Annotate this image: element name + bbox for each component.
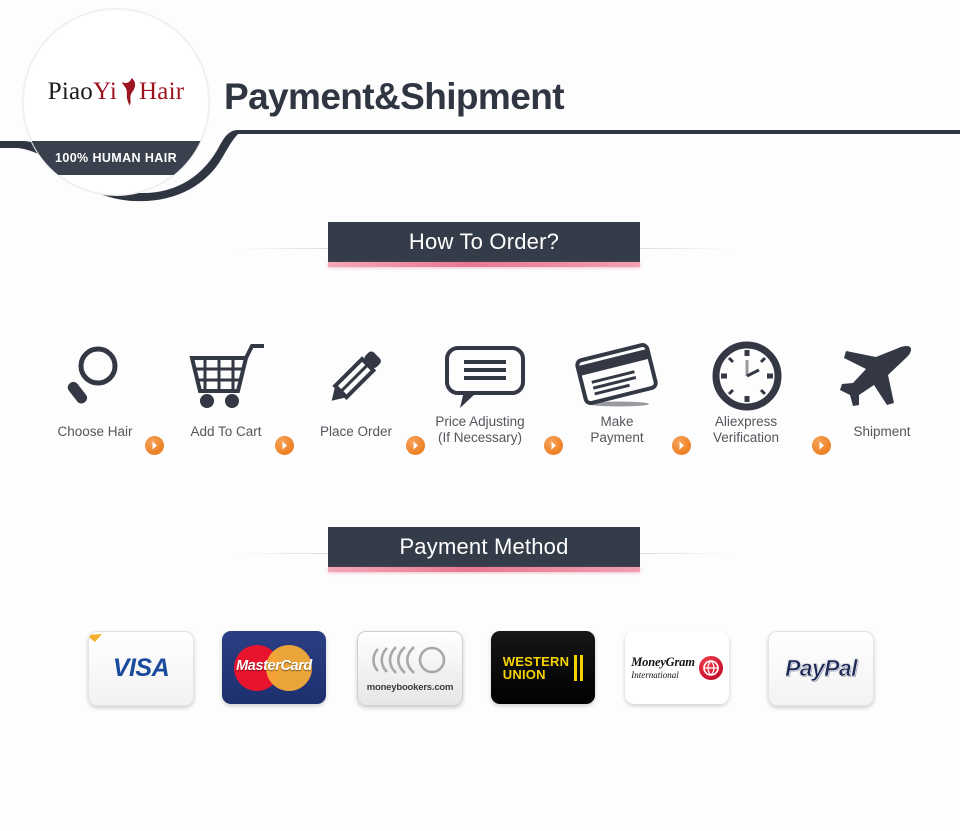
westernunion-wordmark: WESTERN UNION	[503, 655, 569, 681]
step-label-text-line2: (If Necessary)	[420, 430, 540, 446]
payment-logo-paypal[interactable]: PayPal	[768, 631, 874, 706]
payment-logo-moneybookers[interactable]: moneybookers.com	[357, 631, 463, 706]
step-label-price-adjusting: Price Adjusting (If Necessary)	[420, 414, 540, 446]
brand-word-yi: Yi	[93, 78, 117, 105]
step-icon-make-payment	[562, 328, 672, 424]
step-icon-shipment	[820, 328, 930, 424]
section-title-how-to-order: How To Order?	[328, 222, 640, 262]
brand-word-hair: Hair	[139, 78, 184, 105]
step-label-aliexpress-verification: Aliexpress Verification	[686, 414, 806, 446]
section-rule-right	[636, 553, 732, 554]
moneygram-globe-icon	[699, 656, 723, 680]
moneybookers-waves-icon	[370, 645, 450, 675]
mastercard-wordmark: MasterCard	[228, 658, 320, 674]
step-icon-place-order	[300, 328, 410, 424]
step-label-text: Place Order	[320, 424, 392, 439]
step-label-make-payment: Make Payment	[557, 414, 677, 446]
step-label-shipment: Shipment	[822, 424, 942, 440]
payment-logo-row: VISA MasterCard	[0, 631, 960, 751]
visa-swoosh-icon	[88, 634, 102, 642]
pencil-icon	[319, 340, 391, 412]
westernunion-mark: WESTERN UNION	[503, 655, 583, 681]
step-label-text: Price Adjusting	[435, 414, 524, 429]
westernunion-bars-icon	[574, 655, 583, 681]
page-title: Payment&Shipment	[224, 76, 564, 118]
payment-logo-moneygram[interactable]: MoneyGram International	[625, 631, 729, 704]
payment-logo-westernunion[interactable]: WESTERN UNION	[491, 631, 595, 704]
section-rule-right	[636, 248, 732, 249]
westernunion-line1: WESTERN	[503, 655, 569, 668]
steps-icon-row	[0, 328, 960, 424]
shopping-cart-icon	[188, 341, 266, 411]
section-header-payment-method: Payment Method	[0, 527, 960, 581]
credit-card-icon	[571, 340, 663, 412]
moneygram-line1: MoneyGram	[631, 655, 694, 670]
step-icon-aliexpress-verification	[692, 328, 802, 424]
section-underline	[328, 567, 640, 572]
speech-bubble-icon	[442, 340, 528, 412]
section-underline	[328, 262, 640, 267]
brand-logo-badge: PiaoYiHair 100% HUMAN HAIR	[22, 8, 210, 196]
how-to-order-section: How To Order?	[0, 222, 960, 472]
moneygram-line2: International	[631, 670, 694, 680]
magnifier-icon	[64, 341, 126, 411]
step-icon-choose-hair	[40, 328, 150, 424]
step-label-text: Aliexpress	[715, 414, 777, 429]
moneygram-wordmark: MoneyGram International	[631, 655, 694, 680]
moneygram-mark: MoneyGram International	[631, 655, 722, 680]
step-label-choose-hair: Choose Hair	[35, 424, 155, 440]
chevron-right-circle-icon-2	[275, 436, 294, 455]
payment-logo-visa[interactable]: VISA	[88, 631, 194, 706]
westernunion-line2: UNION	[503, 668, 569, 681]
airplane-icon	[832, 343, 918, 409]
step-label-text-line2: Payment	[557, 430, 677, 446]
brand-word-piao: Piao	[48, 78, 93, 105]
mastercard-mark: MasterCard	[228, 640, 320, 696]
chevron-right-circle-icon-1	[145, 436, 164, 455]
step-icon-price-adjusting	[430, 328, 540, 424]
step-label-place-order: Place Order	[296, 424, 416, 440]
step-label-text-line2: Verification	[686, 430, 806, 446]
moneybookers-wordmark: moneybookers.com	[362, 682, 458, 693]
step-label-text: Shipment	[853, 424, 910, 439]
payment-logo-mastercard[interactable]: MasterCard	[222, 631, 326, 704]
clock-icon	[711, 340, 783, 412]
visa-wordmark: VISA	[113, 654, 169, 683]
brand-wordmark: PiaoYiHair	[23, 77, 209, 107]
brand-ribbon: 100% HUMAN HAIR	[23, 141, 209, 175]
section-header-how-to-order: How To Order?	[0, 222, 960, 276]
step-icon-add-to-cart	[172, 328, 282, 424]
step-label-text: Make	[600, 414, 633, 429]
hair-swirl-icon	[118, 77, 138, 107]
step-label-text: Add To Cart	[190, 424, 261, 439]
section-rule-left	[236, 248, 332, 249]
section-rule-left	[236, 553, 332, 554]
step-label-text: Choose Hair	[57, 424, 132, 439]
section-title-payment-method: Payment Method	[328, 527, 640, 567]
payment-method-section: Payment Method VISA MasterCard	[0, 527, 960, 751]
step-label-add-to-cart: Add To Cart	[166, 424, 286, 440]
steps-label-row: Choose Hair Add To Cart Place Order Pric…	[0, 424, 960, 472]
moneybookers-mark: moneybookers.com	[362, 645, 458, 693]
paypal-wordmark: PayPal	[785, 655, 857, 682]
page-header: PiaoYiHair 100% HUMAN HAIR Payment&Shipm…	[0, 0, 960, 222]
